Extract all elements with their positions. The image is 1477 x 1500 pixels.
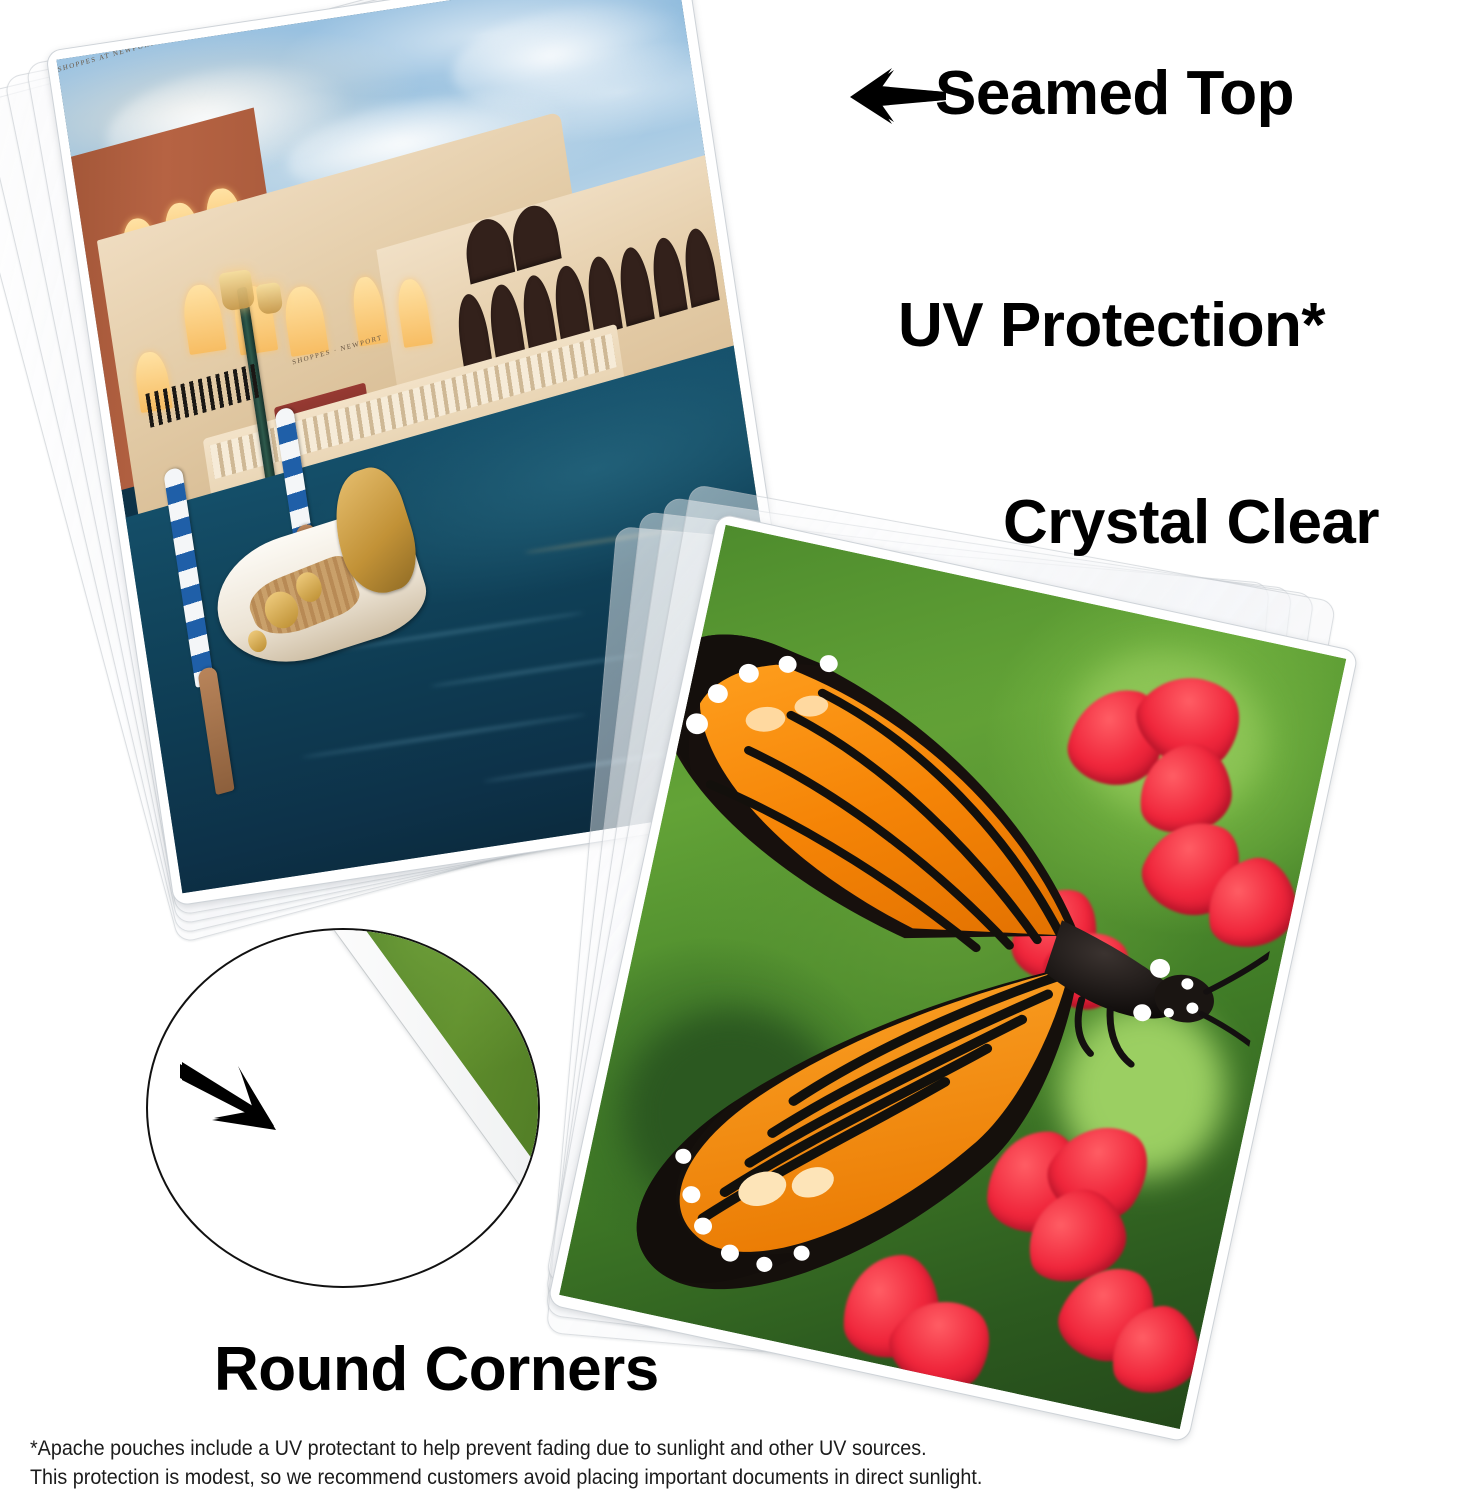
arrow-left-icon xyxy=(848,66,948,128)
butterfly-photo-group xyxy=(585,525,1477,1500)
footnote-line-2: This protection is modest, so we recomme… xyxy=(30,1463,982,1492)
callout-label-round-corners: Round Corners xyxy=(214,1334,659,1405)
product-feature-graphic: SHOPPES AT NEWPORT SHOPPES · NEWPORT xyxy=(0,0,1477,1500)
callout-label-uv-protection: UV Protection* xyxy=(898,290,1325,361)
pouch-corner-closeup xyxy=(300,928,540,1232)
callout-label-seamed-top: Seamed Top xyxy=(935,58,1294,129)
callout-label-crystal-clear: Crystal Clear xyxy=(1003,487,1379,558)
footnote: *Apache pouches include a UV protectant … xyxy=(30,1434,982,1492)
arrow-down-right-icon xyxy=(178,1048,290,1132)
footnote-line-1: *Apache pouches include a UV protectant … xyxy=(30,1434,982,1463)
